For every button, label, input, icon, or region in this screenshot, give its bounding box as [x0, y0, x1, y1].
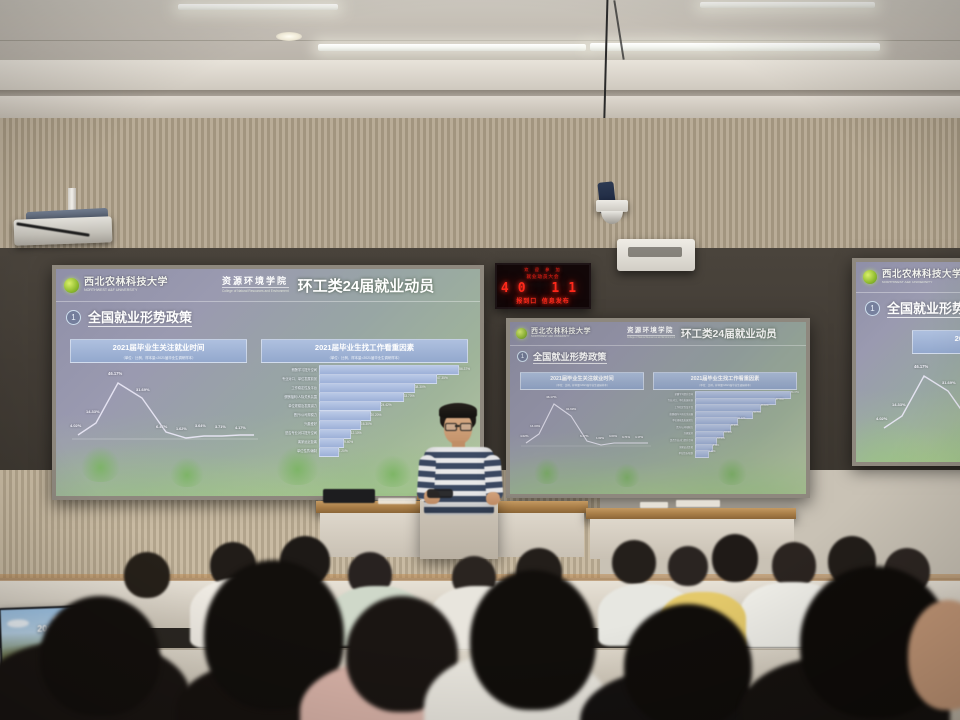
bar-category-label: 薪酬福利/人际关系氛围 — [261, 394, 319, 399]
line-value-label: 31.69% — [942, 380, 956, 385]
audience-head — [40, 596, 160, 716]
line-value-label: 31.69% — [136, 387, 150, 392]
audience-head — [668, 546, 708, 586]
ceiling-light — [318, 44, 586, 51]
bar-category-label: 工作稳定性及平台 — [261, 385, 319, 390]
bar-track: 9.40% — [695, 444, 795, 450]
desk-papers — [378, 498, 416, 504]
bar-track: 12.10% — [695, 437, 795, 443]
slide-header: 西北农林科技大学 NORTHWEST A&F UNIVERSITY 资源环境学院… — [510, 322, 806, 346]
bar-chart-row: 单位性质/编制7.20% — [653, 450, 795, 456]
section-title: 全国就业形势政策 — [88, 307, 192, 327]
line-value-label: 14.33% — [86, 409, 100, 414]
college-name-en: College of Natural Resources and Environ… — [627, 337, 675, 339]
led-line-2: 就业动员大会 — [497, 274, 589, 280]
section-number-badge: 1 — [66, 310, 81, 325]
desk-papers — [640, 502, 668, 508]
slide-content: 西北农林科技大学 NORTHWEST A&F UNIVERSITY 1 全国就业… — [856, 262, 960, 462]
main-screen-right: 西北农林科技大学 NORTHWEST A&F UNIVERSITY 1 全国就业… — [852, 258, 960, 466]
bar-chart-row: 薪酬学习提升空间56.37% — [261, 365, 466, 373]
main-screen-center: 西北农林科技大学 NORTHWEST A&F UNIVERSITY 资源环境学院… — [506, 318, 810, 498]
bar-chart: 薪酬学习提升空间56.37%专业对口、单位发展前景47.35%工作稳定性及平台3… — [653, 391, 795, 459]
section-number-badge: 1 — [865, 301, 880, 316]
university-name-cn: 西北农林科技大学 — [84, 278, 168, 288]
presenter-held-device — [427, 489, 453, 498]
bar-value-label: 38.30% — [415, 383, 426, 391]
led-line-4: 报到口 信息发布 — [497, 296, 589, 305]
right-chart-title-bar: 2021届毕业生找工作看重因素 （单位：比例，样本量=2021届毕业生调研样本） — [261, 339, 468, 363]
line-value-label: 3.71% — [622, 435, 630, 439]
left-chart-subtitle: （单位：比例，样本量=2021届毕业生调研样本） — [122, 355, 196, 360]
bar-fill — [695, 450, 709, 458]
bar-value-label: 12.10% — [351, 429, 362, 437]
bar-chart-row: 兴趣爱好16.30% — [653, 431, 795, 437]
bar-chart-row: 晋升/公司规模力20.20% — [653, 424, 795, 430]
bar-track: 9.40% — [319, 438, 466, 446]
bar-track: 20.20% — [695, 424, 795, 430]
university-logo-icon — [64, 278, 79, 293]
bar-chart-row: 是否专业对口提升空间12.10% — [653, 437, 795, 443]
ceiling-downlight — [276, 32, 302, 41]
presenter-glasses-right-lens — [460, 423, 472, 431]
led-announcement-sign: 欢 迎 参 加 就业动员大会 40 11 报到口 信息发布 — [495, 263, 591, 309]
bar-chart-row: 薪酬福利/人际关系氛围33.70% — [653, 411, 795, 417]
line-chart-svg — [876, 358, 960, 436]
bar-chart-row: 薪酬学习提升空间56.37% — [653, 391, 795, 397]
lecture-hall-photo: 欢 迎 参 加 就业动员大会 40 11 报到口 信息发布 西北农林科技大学 N… — [0, 0, 960, 720]
line-value-label: 46.17% — [546, 395, 557, 399]
bar-value-label: 9.40% — [344, 438, 353, 446]
audience-head — [624, 604, 752, 720]
right-chart-title: 2021届毕业生找工作看重因素 — [315, 342, 414, 353]
line-value-label: 4.02% — [70, 423, 81, 428]
bar-category-label: 薪酬学习提升空间 — [261, 367, 319, 372]
bar-value-label: 33.70% — [753, 411, 761, 417]
slide-header-title: 环工类24届就业动员 — [681, 326, 777, 341]
bar-value-label: 7.20% — [339, 447, 348, 455]
line-value-label: 31.69% — [566, 407, 576, 411]
bar-category-label: 单位规模及发展潜力 — [261, 403, 319, 408]
section-heading: 1 全国就业形势政策 — [517, 349, 607, 364]
bar-chart-row: 工作稳定性及平台38.30% — [653, 404, 795, 410]
university-logo-icon — [516, 328, 527, 339]
audience-head — [470, 570, 596, 710]
bar-chart-row: 单位规模及发展潜力24.42% — [261, 401, 466, 409]
bar-value-label: 20.20% — [731, 424, 739, 430]
bar-value-label: 56.37% — [459, 365, 470, 373]
section-heading: 1 全国就业形势政策 — [66, 307, 192, 327]
bar-chart-row: 工作稳定性及平台38.30% — [261, 383, 466, 391]
presenter-hair-top — [439, 403, 477, 418]
bar-value-label: 33.70% — [404, 392, 415, 400]
slide-content: 西北农林科技大学 NORTHWEST A&F UNIVERSITY 资源环境学院… — [510, 322, 806, 494]
bar-category-label: 晋升/公司规模力 — [653, 425, 695, 429]
bar-track: 16.30% — [695, 431, 795, 437]
led-line-1: 欢 迎 参 加 — [497, 267, 589, 273]
audience-head — [712, 534, 758, 582]
slide-tree — [374, 455, 412, 487]
bar-value-label: 47.35% — [437, 374, 448, 382]
line-value-label: 3.64% — [609, 434, 617, 438]
line-value-label: 3.64% — [195, 424, 206, 428]
bar-category-label: 晋升/公司规模力 — [261, 412, 319, 417]
bar-value-label: 12.10% — [717, 437, 725, 443]
ceiling-beam — [0, 96, 960, 118]
wall-device-grill — [628, 247, 682, 257]
bar-chart-row: 专业对口、单位发展前景47.35% — [653, 398, 795, 404]
desk-monitor — [323, 489, 375, 503]
bar-value-label: 20.20% — [371, 411, 382, 419]
presenter-right-forearm — [486, 492, 500, 505]
slide-tree — [170, 457, 204, 487]
slide-tree — [534, 458, 561, 484]
bar-category-label: 专业对口、单位发展前景 — [653, 398, 695, 402]
bar-value-label: 7.20% — [709, 450, 716, 456]
side-desk-top — [586, 508, 796, 519]
bar-category-label: 薪酬福利/人际关系氛围 — [653, 412, 695, 416]
line-value-label: 1.62% — [176, 427, 187, 431]
bar-category-label: 离家远近距离 — [261, 439, 319, 444]
bar-chart-row: 是否专业对口提升空间12.10% — [261, 429, 466, 437]
line-value-label: 1.62% — [596, 436, 604, 440]
line-value-label: 14.33% — [530, 424, 540, 428]
bar-category-label: 兴趣爱好 — [261, 421, 319, 426]
slide-tree — [717, 458, 747, 486]
audience-head — [124, 552, 170, 598]
section-heading: 1 全国就业形势政策 — [865, 298, 960, 318]
line-chart: 4.02% 14.33% 46.17% 31.69% 6.47% 1.62% 3… — [520, 391, 652, 449]
audience-head — [612, 540, 656, 584]
projection-surface: 西北农林科技大学 NORTHWEST A&F UNIVERSITY 资源环境学院… — [510, 322, 806, 494]
line-value-label: 46.17% — [108, 371, 122, 376]
bar-value-label: 24.42% — [738, 417, 746, 423]
left-chart-subtitle: （单位：比例，样本量=2021届毕业生调研样本） — [555, 383, 610, 387]
line-value-label: 6.47% — [580, 434, 589, 438]
bar-value-label: 47.35% — [776, 398, 784, 404]
slide-tree — [81, 446, 119, 482]
bar-track: 33.70% — [695, 411, 795, 417]
bar-category-label: 薪酬学习提升空间 — [653, 392, 695, 396]
section-title: 全国就业形势政策 — [887, 298, 960, 318]
line-chart-svg — [520, 391, 652, 449]
right-chart-subtitle: （单位：比例，样本量=2021届毕业生调研样本） — [698, 383, 753, 387]
desk-papers — [676, 500, 720, 507]
bar-category-label: 单位性质/编制 — [653, 451, 695, 455]
bar-track: 56.37% — [695, 391, 795, 397]
slide-header: 西北农林科技大学 NORTHWEST A&F UNIVERSITY — [856, 262, 960, 293]
ceiling-light — [700, 2, 875, 8]
line-chart-svg — [70, 365, 260, 443]
bar-chart-row: 兴趣爱好16.30% — [261, 420, 466, 428]
college-name-cn: 资源环境学院 — [627, 328, 675, 336]
right-chart-title: 2021届毕业生找工作看重因素 — [691, 375, 760, 382]
university-name-en: NORTHWEST A&F UNIVERSITY — [531, 336, 591, 338]
university-name-en: NORTHWEST A&F UNIVERSITY — [84, 289, 168, 292]
college-name-en: College of Natural Resources and Environ… — [222, 290, 289, 293]
bar-track: 7.20% — [695, 450, 795, 456]
line-chart: 4.02% 14.33% 46.17% 31.69% 6.47% — [876, 358, 960, 436]
bar-chart-row: 离家远近距离9.40% — [653, 444, 795, 450]
bar-track: 33.70% — [319, 392, 466, 400]
college-name-cn: 资源环境学院 — [222, 277, 289, 288]
bar-category-label: 是否专业对口提升空间 — [261, 430, 319, 435]
university-name-cn: 西北农林科技大学 — [882, 270, 960, 280]
right-chart-title-bar: 2021届毕业生找工作看重因素 （单位：比例，样本量=2021届毕业生调研样本） — [653, 372, 797, 390]
slide-content: 西北农林科技大学 NORTHWEST A&F UNIVERSITY 资源环境学院… — [56, 269, 480, 496]
bar-category-label: 是否专业对口提升空间 — [653, 438, 695, 442]
ceiling-light — [590, 43, 880, 51]
slide-tree — [614, 463, 641, 487]
left-chart-title-bar: 2021届毕业生关注就业时间 （单位：比例，样本量=2021届毕业生调研样本） — [70, 339, 247, 363]
left-chart-title: 2021届毕业生关注就业时间 — [955, 333, 960, 344]
section-number-badge: 1 — [517, 351, 528, 362]
projection-surface: 西北农林科技大学 NORTHWEST A&F UNIVERSITY 1 全国就业… — [856, 262, 960, 462]
left-chart-title-bar: 2021届毕业生关注就业时间 （单位：比例，样本量=2021届毕业生调研样本） — [520, 372, 644, 390]
bar-chart-row: 专业对口、单位发展前景47.35% — [261, 374, 466, 382]
bar-category-label: 单位规模及发展潜力 — [653, 418, 695, 422]
bar-track: 56.37% — [319, 365, 466, 373]
university-name-cn: 西北农林科技大学 — [531, 328, 591, 335]
bar-chart-row: 单位规模及发展潜力24.42% — [653, 417, 795, 423]
line-value-label: 6.47% — [156, 424, 167, 429]
line-value-label: 14.33% — [892, 402, 906, 407]
ceiling-light — [178, 4, 338, 10]
bar-chart-row: 薪酬福利/人际关系氛围33.70% — [261, 392, 466, 400]
bar-value-label: 9.40% — [713, 444, 720, 450]
bar-track: 38.30% — [695, 404, 795, 410]
section-title: 全国就业形势政策 — [533, 349, 607, 364]
bar-category-label: 离家远近距离 — [653, 445, 695, 449]
bar-category-label: 单位性质/编制 — [261, 448, 319, 453]
line-chart: 4.02% 14.33% 46.17% 31.69% 6.47% 1.62% 3… — [70, 365, 260, 443]
slide-header: 西北农林科技大学 NORTHWEST A&F UNIVERSITY 资源环境学院… — [56, 269, 480, 302]
presenter-glasses-bridge — [455, 425, 460, 427]
bar-value-label: 38.30% — [761, 404, 769, 410]
university-name-en: NORTHWEST A&F UNIVERSITY — [882, 281, 960, 284]
bar-chart-row: 离家远近距离9.40% — [261, 438, 466, 446]
bar-category-label: 工作稳定性及平台 — [653, 405, 695, 409]
left-chart-title-bar: 2021届毕业生关注就业时间 （单位：比例，样本量=2021届毕业生调研样本） — [912, 330, 960, 354]
right-chart-subtitle: （单位：比例，样本量=2021届毕业生调研样本） — [328, 355, 402, 360]
led-line-3: 40 11 — [497, 281, 589, 296]
slide-header-title: 环工类24届就业动员 — [298, 275, 435, 296]
bar-chart-row: 晋升/公司规模力20.20% — [261, 411, 466, 419]
line-value-label: 4.17% — [235, 426, 246, 430]
bar-category-label: 专业对口、单位发展前景 — [261, 376, 319, 381]
bar-chart: 薪酬学习提升空间56.37%专业对口、单位发展前景47.35%工作稳定性及平台3… — [261, 365, 466, 457]
line-value-label: 4.02% — [520, 434, 529, 438]
bar-value-label: 16.30% — [724, 431, 732, 437]
bar-track: 47.35% — [695, 398, 795, 404]
bar-value-label: 16.30% — [361, 420, 372, 428]
projection-surface: 西北农林科技大学 NORTHWEST A&F UNIVERSITY 资源环境学院… — [56, 269, 480, 496]
bar-value-label: 24.42% — [381, 401, 392, 409]
bar-track: 47.35% — [319, 374, 466, 382]
line-value-label: 4.02% — [876, 416, 887, 421]
university-logo-icon — [863, 270, 877, 284]
line-value-label: 4.17% — [635, 435, 643, 439]
bar-category-label: 兴趣爱好 — [653, 431, 695, 435]
bar-track: 24.42% — [695, 417, 795, 423]
left-chart-title: 2021届毕业生关注就业时间 — [113, 342, 205, 353]
bar-value-label: 56.37% — [791, 391, 799, 397]
left-chart-title: 2021届毕业生关注就业时间 — [550, 375, 613, 382]
bar-fill — [319, 447, 339, 457]
upper-wall-slats — [0, 118, 960, 258]
line-value-label: 3.71% — [215, 425, 226, 429]
line-value-label: 46.17% — [914, 364, 928, 369]
ceiling-beam — [0, 60, 960, 90]
bar-track: 38.30% — [319, 383, 466, 391]
